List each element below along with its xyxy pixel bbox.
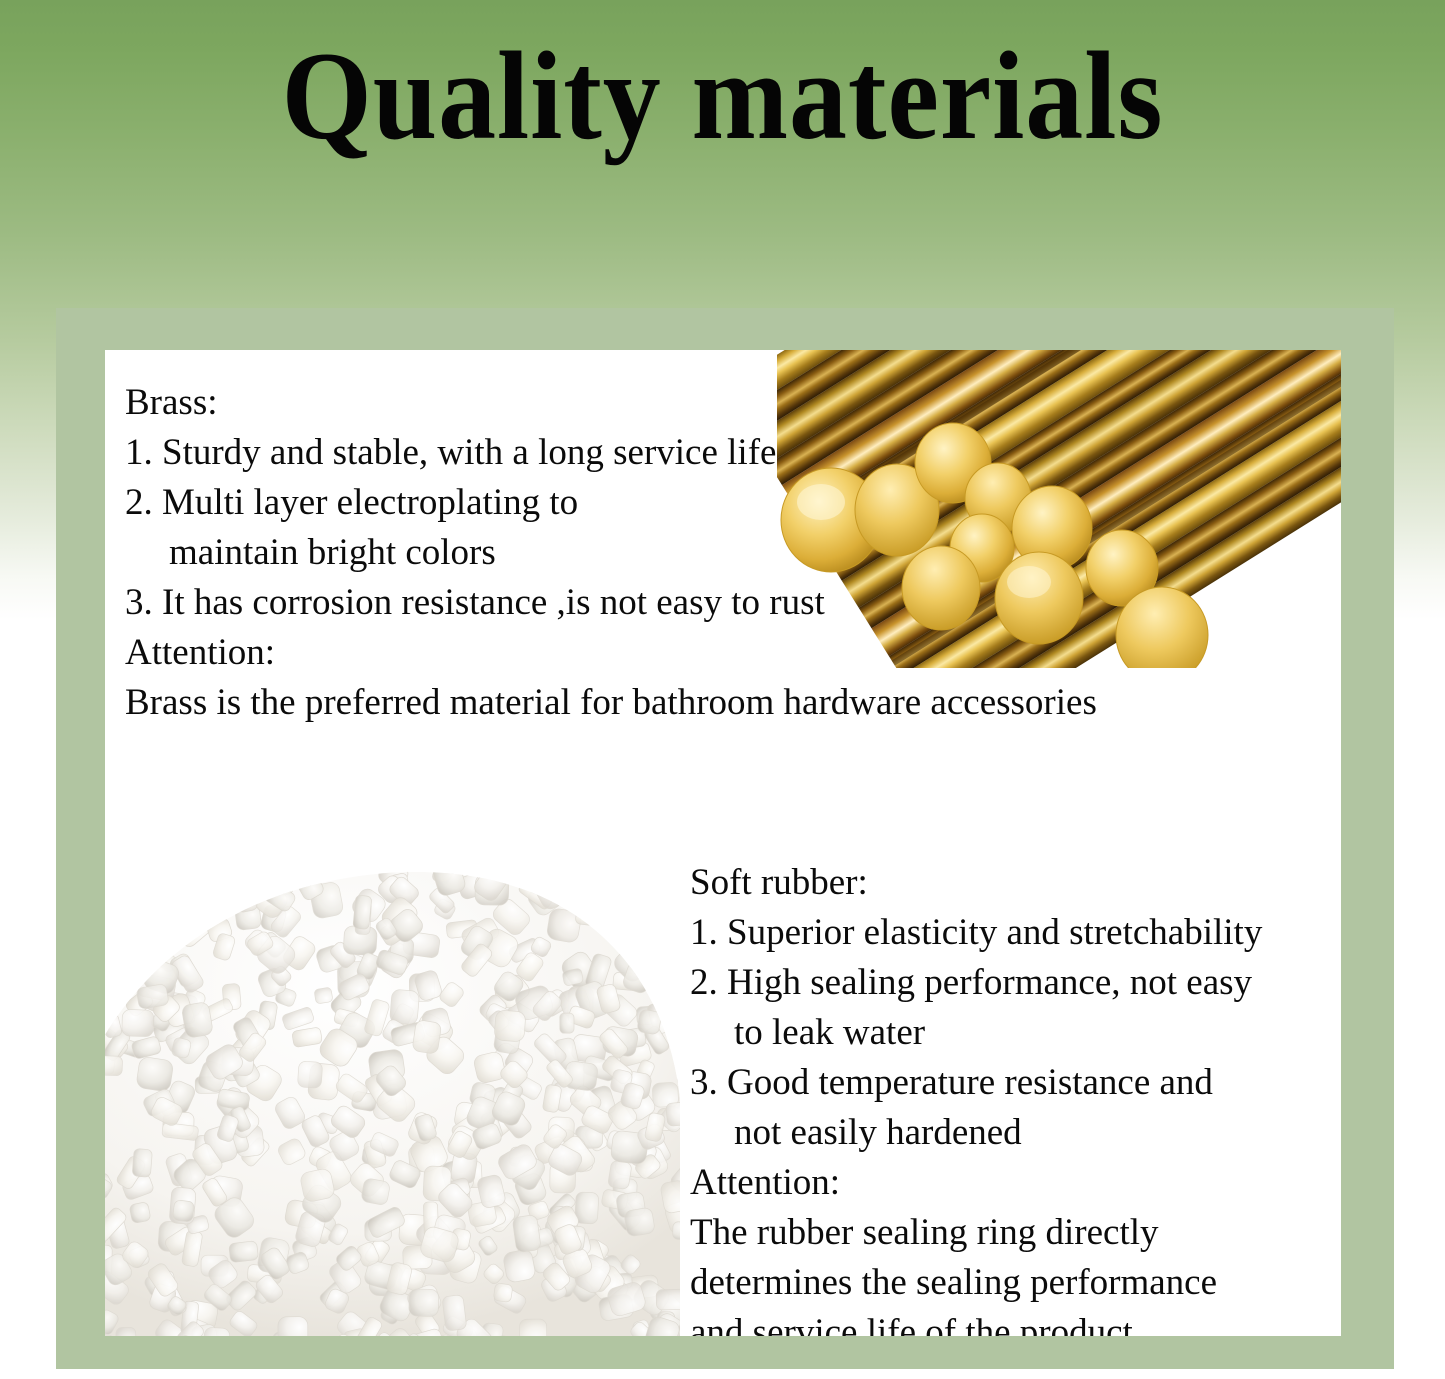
- rubber-item-2-cont: to leak water: [690, 1008, 1340, 1058]
- page-title: Quality materials: [58, 34, 1387, 160]
- brass-attention-text: Brass is the preferred material for bath…: [125, 678, 1265, 728]
- content-card: Brass: 1. Sturdy and stable, with a long…: [105, 350, 1341, 1336]
- rubber-item-3-cont: not easily hardened: [690, 1108, 1340, 1158]
- brass-heading: Brass:: [125, 378, 1265, 428]
- rubber-pellets-illustration: [105, 838, 685, 1336]
- rubber-text-block: Soft rubber: 1. Superior elasticity and …: [690, 858, 1340, 1336]
- rubber-attention-line-3: and service life of the product: [690, 1308, 1340, 1336]
- brass-attention-label: Attention:: [125, 628, 1265, 678]
- rubber-item-1: 1. Superior elasticity and stretchabilit…: [690, 908, 1340, 958]
- brass-item-1: 1. Sturdy and stable, with a long servic…: [125, 428, 1265, 478]
- rubber-pellets-photo: [105, 838, 685, 1336]
- brass-item-3: 3. It has corrosion resistance ,is not e…: [125, 578, 1265, 628]
- rubber-attention-line-2: determines the sealing performance: [690, 1258, 1340, 1308]
- brass-item-2: 2. Multi layer electroplating to: [125, 478, 1265, 528]
- brass-item-2-cont: maintain bright colors: [125, 528, 1265, 578]
- brass-text-block: Brass: 1. Sturdy and stable, with a long…: [125, 378, 1265, 728]
- rubber-item-2: 2. High sealing performance, not easy: [690, 958, 1340, 1008]
- rubber-heading: Soft rubber:: [690, 858, 1340, 908]
- rubber-attention-line-1: The rubber sealing ring directly: [690, 1208, 1340, 1258]
- infographic-page: Quality materials: [0, 0, 1445, 1379]
- rubber-item-3: 3. Good temperature resistance and: [690, 1058, 1340, 1108]
- rubber-attention-label: Attention:: [690, 1158, 1340, 1208]
